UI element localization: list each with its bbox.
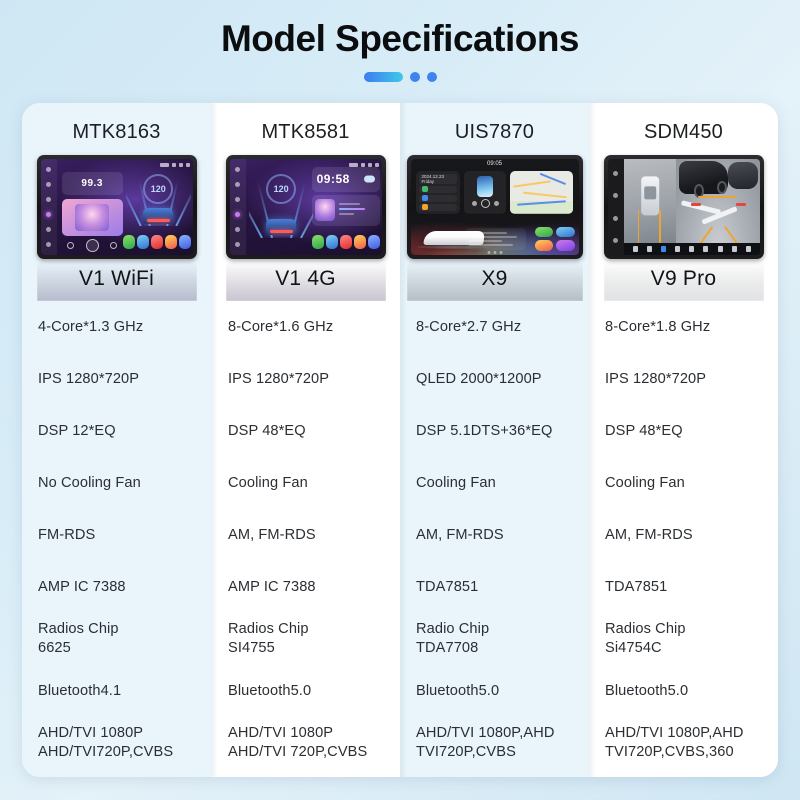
x9-shortcut-panel: 2024.12.23 Friday (416, 171, 460, 214)
radio-widget: 99.3 (62, 172, 123, 195)
spec-bluetooth: Bluetooth4.1 (22, 665, 211, 717)
x9-app-grid (535, 227, 575, 251)
x9-page-dots (487, 251, 502, 254)
device-screen-4 (608, 159, 760, 255)
x9-map-panel (510, 171, 573, 214)
maps-icon (354, 235, 366, 249)
car-silhouette-2 (266, 219, 296, 235)
camera-view-360-icon (661, 246, 666, 252)
x9-status-bar: 09:05 (411, 159, 579, 170)
speedometer-2: 120 (266, 174, 296, 204)
x9-widget-row: 2024.12.23 Friday (416, 171, 574, 214)
spec-display: IPS 1280*720P (211, 353, 400, 405)
model-name-4: V9 Pro (589, 267, 778, 291)
spec-cpu: 8-Core*1.6 GHz (211, 301, 400, 353)
weather-icon (364, 176, 375, 183)
carlink-icon (422, 195, 428, 201)
play-icon (481, 199, 490, 208)
spec-radio-chip: Radios Chip SI4755 (211, 613, 400, 665)
camera-view-wide-icon (718, 246, 723, 252)
camera-view-right-icon (689, 246, 694, 252)
camera-toolbar (624, 243, 759, 255)
rail-icon-radio (235, 197, 240, 202)
spec-amp: AMP IC 7388 (22, 561, 211, 613)
next-icon (110, 242, 117, 249)
chip-name-1: MTK8163 (22, 103, 211, 151)
specifications-table: MTK8163 (22, 103, 778, 777)
pagination-active-pill[interactable] (364, 72, 403, 82)
maps-icon (165, 235, 177, 249)
rail-icon-apps (46, 212, 51, 217)
x9-ambient-area (411, 213, 579, 255)
spec-display: IPS 1280*720P (589, 353, 778, 405)
driving-visual: 120 (126, 167, 191, 227)
play-icon (86, 239, 99, 252)
rail-icon-camera (613, 216, 618, 221)
signal-icon (349, 163, 358, 167)
device-screen-2: 120 09:58 (230, 159, 382, 255)
camera-settings-icon (746, 246, 751, 252)
settings-icon (368, 235, 380, 249)
spec-radio-band: AM, FM-RDS (211, 509, 400, 561)
prev-icon (472, 201, 477, 206)
spec-camera-input: AHD/TVI 1080P AHD/TVI 720P,CVBS (211, 717, 400, 769)
spec-dsp: DSP 48*EQ (211, 405, 400, 457)
spec-camera-input: AHD/TVI 1080P AHD/TVI720P,CVBS (22, 717, 211, 769)
rail-icon-nav (46, 167, 51, 172)
model-name-1: V1 WiFi (22, 267, 211, 291)
rail-icon-home (46, 182, 51, 187)
x9-carlink-card (419, 195, 457, 202)
rail-icon-nav (613, 171, 618, 176)
rail-icon-home (613, 193, 618, 198)
device-bezel-3: 09:05 2024.12.23 Friday (407, 155, 583, 259)
rail-icon-settings (235, 242, 240, 247)
carplay-icon (123, 235, 135, 249)
speedometer: 120 (143, 174, 173, 204)
rail-icon-camera (46, 227, 51, 232)
spec-amp: TDA7851 (589, 561, 778, 613)
head-unit-1: 99.3 (37, 155, 197, 259)
spec-column-uis7870[interactable]: UIS7870 09:05 2024.12.23 Friday (400, 103, 589, 777)
spec-camera-input: AHD/TVI 1080P,AHD TVI720P,CVBS (400, 717, 589, 769)
spec-radio-chip: Radio Chip TDA7708 (400, 613, 589, 665)
android-auto-icon (137, 235, 149, 249)
head-unit-3: 09:05 2024.12.23 Friday (407, 155, 583, 259)
spec-display: QLED 2000*1200P (400, 353, 589, 405)
car-topdown-icon (641, 176, 659, 215)
chip-name-3: UIS7870 (400, 103, 589, 151)
x9-recorder-card (419, 204, 457, 211)
music-widget (312, 195, 380, 227)
spec-camera-input: AHD/TVI 1080P,AHD TVI720P,CVBS,360 (589, 717, 778, 769)
spec-cooling: Cooling Fan (211, 457, 400, 509)
music-icon (151, 235, 163, 249)
spec-bluetooth: Bluetooth5.0 (211, 665, 400, 717)
maps-icon (535, 240, 554, 250)
spec-cooling: No Cooling Fan (22, 457, 211, 509)
chip-name-2: MTK8581 (211, 103, 400, 151)
chip-name-4: SDM450 (589, 103, 778, 151)
prev-icon (67, 242, 74, 249)
device-bezel-4 (604, 155, 764, 259)
detected-vehicle-2 (728, 162, 758, 189)
battery-icon (368, 163, 372, 167)
recorder-icon (422, 204, 428, 210)
carplay-icon (312, 235, 324, 249)
assistant-icon (556, 240, 575, 250)
pagination-dot-3[interactable] (427, 72, 437, 82)
android-auto-icon (556, 227, 575, 237)
spec-list-3: 8-Core*2.7 GHz QLED 2000*1200P DSP 5.1DT… (400, 297, 589, 777)
spec-cpu: 4-Core*1.3 GHz (22, 301, 211, 353)
clock-time: 09:58 (317, 172, 350, 186)
screen2-side-rail (230, 159, 247, 255)
bluetooth-icon (422, 186, 428, 192)
spec-amp: AMP IC 7388 (211, 561, 400, 613)
page-header: Model Specifications (0, 0, 800, 83)
x9-vehicle-stats (466, 228, 526, 250)
rail-icon-nav (235, 167, 240, 172)
pagination-dot-2[interactable] (410, 72, 420, 82)
spec-list-4: 8-Core*1.8 GHz IPS 1280*720P DSP 48*EQ C… (589, 297, 778, 777)
android-auto-icon (326, 235, 338, 249)
settings-icon (179, 235, 191, 249)
next-icon (494, 201, 499, 206)
spec-list-1: 4-Core*1.3 GHz IPS 1280*720P DSP 12*EQ N… (22, 297, 211, 777)
device-screen-3: 09:05 2024.12.23 Friday (411, 159, 579, 255)
pagination-indicator[interactable] (0, 71, 800, 83)
spec-dsp: DSP 12*EQ (22, 405, 211, 457)
screen4-side-rail (608, 159, 625, 255)
album-art-widget (62, 199, 123, 235)
rail-icon-apps (235, 212, 240, 217)
spec-radio-chip: Radios Chip 6625 (22, 613, 211, 665)
model-name-2: V1 4G (211, 267, 400, 291)
music-meta (335, 203, 377, 218)
spec-bluetooth: Bluetooth5.0 (400, 665, 589, 717)
camera-record-icon (732, 246, 737, 252)
device-screen-1: 99.3 (41, 159, 193, 255)
rail-icon-radio (46, 197, 51, 202)
carplay-icon (535, 227, 554, 237)
spec-display: IPS 1280*720P (22, 353, 211, 405)
x9-album-art (477, 176, 493, 197)
x9-date-card: 2024.12.23 Friday (419, 174, 457, 184)
wifi-icon (361, 163, 365, 167)
rail-icon-camera (235, 227, 240, 232)
x9-music-panel (464, 171, 505, 214)
spec-amp: TDA7851 (400, 561, 589, 613)
car-silhouette (143, 208, 173, 224)
spec-radio-chip: Radios Chip Si4754C (589, 613, 778, 665)
spec-radio-band: AM, FM-RDS (589, 509, 778, 561)
model-name-3: X9 (400, 267, 589, 291)
driving-visual-2: 120 (249, 165, 313, 238)
x9-media-controls (472, 199, 499, 208)
spec-cooling: Cooling Fan (589, 457, 778, 509)
screen1-side-rail (41, 159, 58, 255)
device-bezel-1: 99.3 (37, 155, 197, 259)
spec-column-mtk8581[interactable]: MTK8581 (211, 103, 400, 777)
camera-view-left-icon (675, 246, 680, 252)
spec-cooling: Cooling Fan (400, 457, 589, 509)
x9-bluetooth-card (419, 186, 457, 193)
camera-view-split-icon (703, 246, 708, 252)
page-title: Model Specifications (0, 16, 800, 62)
rail-icon-home (235, 182, 240, 187)
rail-icon-settings (46, 242, 51, 247)
camera-view-rear-icon (647, 246, 652, 252)
rear-camera-view (676, 159, 760, 243)
spec-dsp: DSP 48*EQ (589, 405, 778, 457)
screen2-app-dock (312, 231, 380, 253)
x9-status-time: 09:05 (487, 161, 502, 167)
album-art-image (75, 204, 109, 230)
back-icon (375, 163, 379, 167)
spec-dsp: DSP 5.1DTS+36*EQ (400, 405, 589, 457)
spec-bluetooth: Bluetooth5.0 (589, 665, 778, 717)
topdown-camera-view (624, 159, 676, 243)
head-unit-2: 120 09:58 (226, 155, 386, 259)
spec-radio-band: AM, FM-RDS (400, 509, 589, 561)
spec-list-2: 8-Core*1.6 GHz IPS 1280*720P DSP 48*EQ C… (211, 297, 400, 777)
spec-column-mtk8163[interactable]: MTK8163 (22, 103, 211, 777)
screen1-app-dock (123, 231, 191, 253)
device-bezel-2: 120 09:58 (226, 155, 386, 259)
spec-radio-band: FM-RDS (22, 509, 211, 561)
camera-view-front-icon (633, 246, 638, 252)
music-icon (340, 235, 352, 249)
rail-icon-settings (613, 238, 618, 243)
clock-widget: 09:58 (312, 167, 380, 192)
media-controls (62, 240, 123, 252)
spec-cpu: 8-Core*1.8 GHz (589, 301, 778, 353)
spec-cpu: 8-Core*2.7 GHz (400, 301, 589, 353)
album-art-image-2 (315, 199, 335, 221)
spec-column-sdm450[interactable]: SDM450 (589, 103, 778, 777)
head-unit-4 (604, 155, 764, 259)
